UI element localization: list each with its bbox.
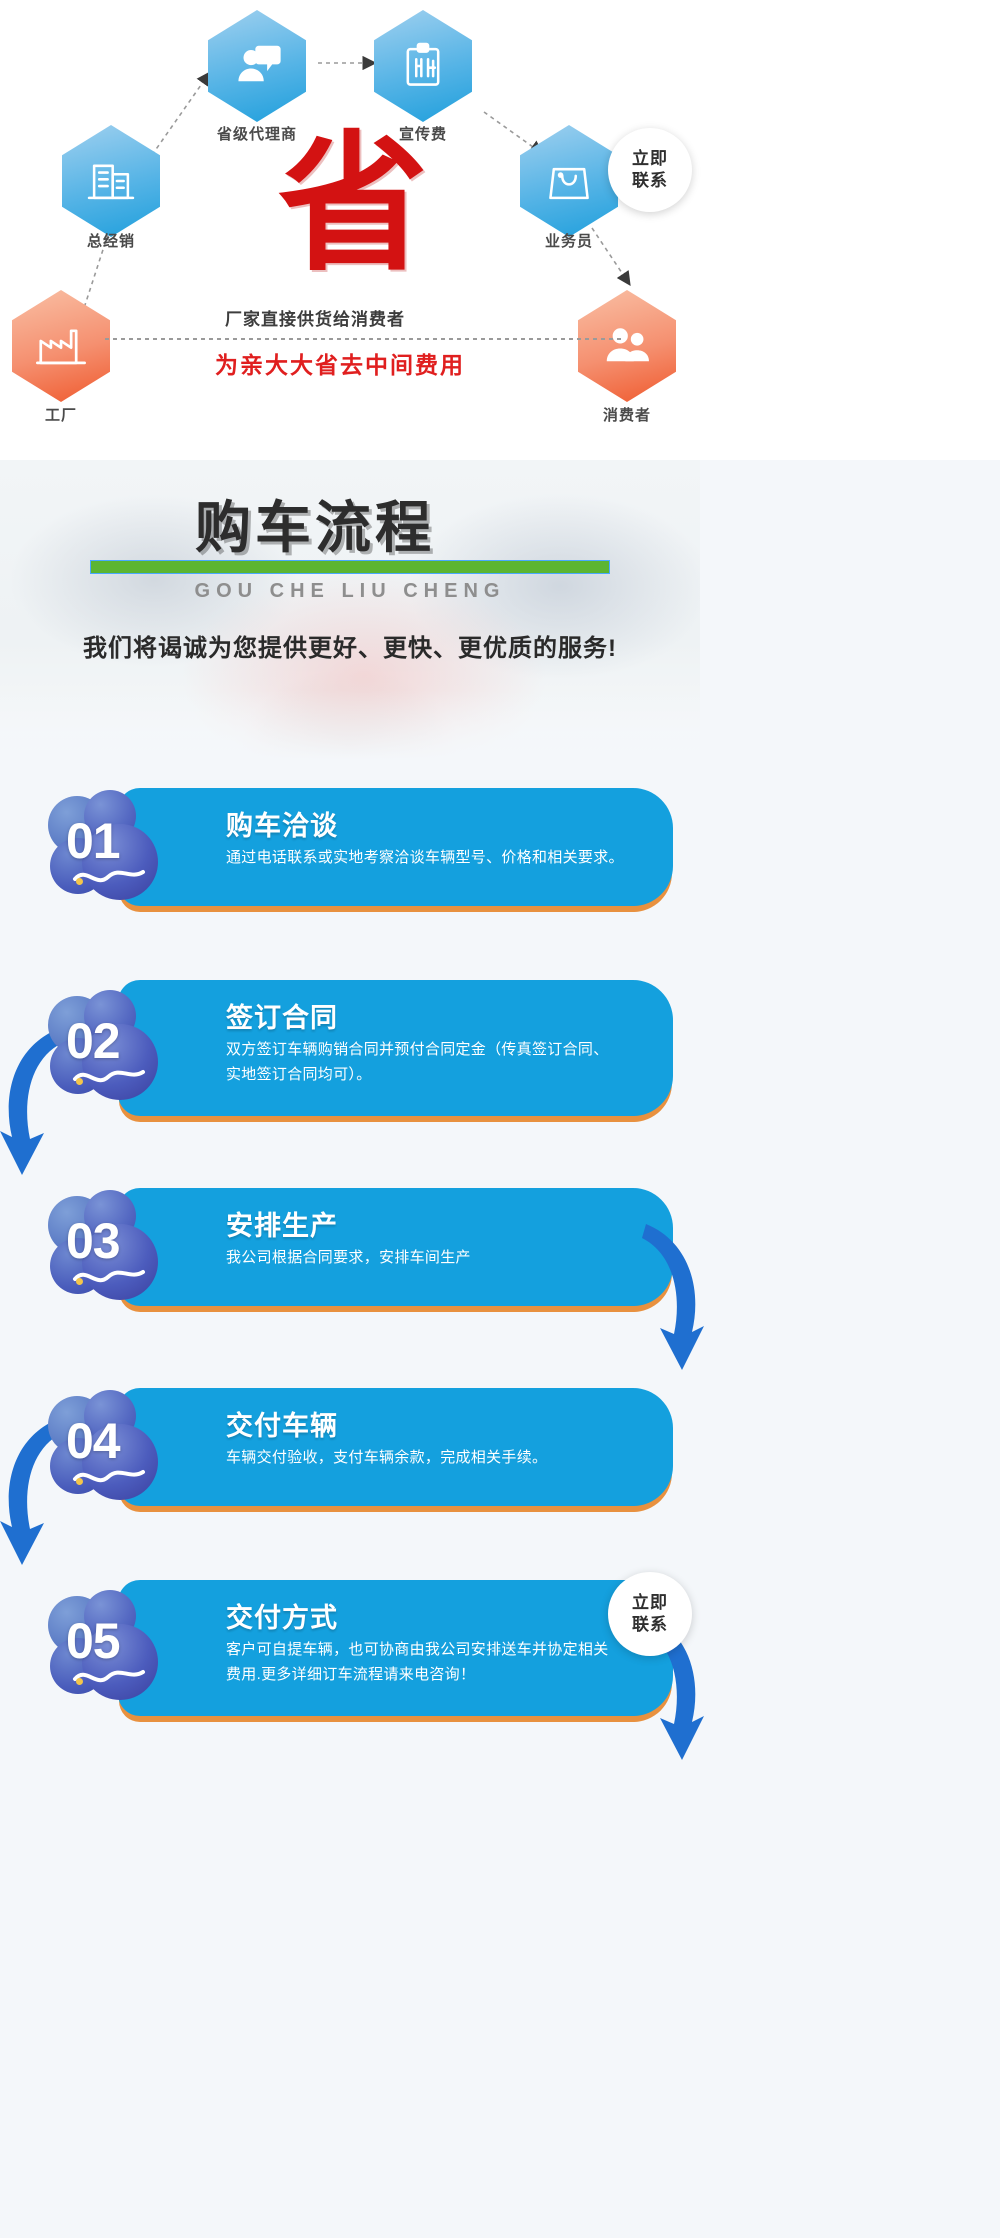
node-promotion-fee[interactable]: [374, 10, 472, 122]
step-title: 交付车辆: [226, 1404, 649, 1443]
step-card-03[interactable]: 安排生产 我公司根据合同要求，安排车间生产: [118, 1188, 673, 1306]
step-desc-line: 费用.更多详细订车流程请来电咨询！: [226, 1662, 649, 1687]
node-salesman-label: 业务员: [520, 230, 618, 251]
agent-chat-icon: [230, 39, 284, 93]
process-subtitle: 我们将谒诚为您提供更好、更快、更优质的服务!: [0, 628, 700, 663]
process-step[interactable]: 交付车辆 车辆交付验收，支付车辆余款，完成相关手续。 04: [0, 1360, 700, 1560]
title-underline-bar: [90, 560, 610, 574]
step-badge-04: 04: [48, 1390, 166, 1508]
step-number: 03: [66, 1212, 120, 1270]
factory-icon: [34, 319, 88, 373]
node-consumer-label: 消费者: [578, 404, 676, 425]
process-step[interactable]: 交付方式 客户可自提车辆，也可协商由我公司安排送车并协定相关 费用.更多详细订车…: [0, 1560, 700, 1760]
customer-service-icon: [600, 319, 654, 373]
step-title: 签订合同: [226, 996, 649, 1035]
process-step[interactable]: 签订合同 双方签订车辆购销合同并预付合同定金（传真签订合同、 实地签订合同均可）…: [0, 960, 700, 1160]
step-badge-05: 05: [48, 1590, 166, 1708]
step-title: 购车洽谈: [226, 804, 649, 843]
step-desc-line: 车辆交付验收，支付车辆余款，完成相关手续。: [226, 1445, 649, 1470]
office-building-icon: [84, 154, 138, 208]
contact-now-button-bottom[interactable]: 立即 联系: [608, 1572, 692, 1656]
step-desc-line: 双方签订车辆购销合同并预付合同定金（传真签订合同、: [226, 1037, 649, 1062]
process-step[interactable]: 安排生产 我公司根据合同要求，安排车间生产 03: [0, 1160, 700, 1360]
badge-dot-icon: [76, 878, 83, 885]
contact-now-line2: 联系: [632, 1614, 668, 1636]
product-detail-page: 工厂 总经销: [0, 0, 1000, 2238]
node-factory[interactable]: [12, 290, 110, 402]
wave-icon: [72, 1264, 146, 1288]
contact-now-line2: 联系: [632, 170, 668, 192]
contact-now-line1: 立即: [632, 148, 668, 170]
wave-icon: [72, 864, 146, 888]
step-badge-01: 01: [48, 790, 166, 908]
node-consumer[interactable]: [578, 290, 676, 402]
step-title: 交付方式: [226, 1596, 649, 1635]
step-number: 02: [66, 1012, 120, 1070]
step-number: 05: [66, 1612, 120, 1670]
flow-arrow-right-1: [638, 1220, 708, 1380]
process-step[interactable]: 购车洽谈 通过电话联系或实地考察洽谈车辆型号、价格和相关要求。 01: [0, 760, 700, 960]
contact-now-line1: 立即: [632, 1592, 668, 1614]
step-card-05[interactable]: 交付方式 客户可自提车辆，也可协商由我公司安排送车并协定相关 费用.更多详细订车…: [118, 1580, 673, 1716]
step-number: 04: [66, 1412, 120, 1470]
step-badge-03: 03: [48, 1190, 166, 1308]
wave-icon: [72, 1664, 146, 1688]
process-title: 购车流程: [195, 498, 435, 558]
diagram-tagline-1: 厂家直接供货给消费者: [225, 305, 405, 330]
step-desc-line: 通过电话联系或实地考察洽谈车辆型号、价格和相关要求。: [226, 845, 649, 870]
purchase-process-section: 购车流程 GOU CHE LIU CHENG 我们将谒诚为您提供更好、更快、更优…: [0, 460, 1000, 2238]
diagram-tagline-2: 为亲大大省去中间费用: [215, 346, 465, 380]
process-step-list: 购车洽谈 通过电话联系或实地考察洽谈车辆型号、价格和相关要求。 01: [0, 760, 700, 1760]
clipboard-approval-icon: [396, 39, 450, 93]
badge-dot-icon: [76, 1478, 83, 1485]
step-desc-line: 我公司根据合同要求，安排车间生产: [226, 1245, 649, 1270]
step-badge-02: 02: [48, 990, 166, 1108]
step-card-01[interactable]: 购车洽谈 通过电话联系或实地考察洽谈车辆型号、价格和相关要求。: [118, 788, 673, 906]
node-general-distributor-label: 总经销: [62, 230, 160, 251]
big-save-character: 省: [278, 130, 428, 280]
node-salesman[interactable]: [520, 125, 618, 237]
badge-dot-icon: [76, 1678, 83, 1685]
step-card-02[interactable]: 签订合同 双方签订车辆购销合同并预付合同定金（传真签订合同、 实地签订合同均可）…: [118, 980, 673, 1116]
step-number: 01: [66, 812, 120, 870]
badge-dot-icon: [76, 1278, 83, 1285]
distribution-diagram-section: 工厂 总经销: [0, 0, 1000, 460]
node-factory-label: 工厂: [12, 404, 110, 425]
step-title: 安排生产: [226, 1204, 649, 1243]
badge-dot-icon: [76, 1078, 83, 1085]
process-pinyin: GOU CHE LIU CHENG: [0, 580, 700, 603]
node-provincial-agent[interactable]: [208, 10, 306, 122]
wave-icon: [72, 1064, 146, 1088]
shopping-bag-icon: [542, 154, 596, 208]
step-desc-line: 实地签订合同均可）。: [226, 1062, 649, 1087]
step-desc-line: 客户可自提车辆，也可协商由我公司安排送车并协定相关: [226, 1637, 649, 1662]
node-general-distributor[interactable]: [62, 125, 160, 237]
contact-now-button-top[interactable]: 立即 联系: [608, 128, 692, 212]
diagram-divider: [105, 338, 625, 340]
wave-icon: [72, 1464, 146, 1488]
step-card-04[interactable]: 交付车辆 车辆交付验收，支付车辆余款，完成相关手续。: [118, 1388, 673, 1506]
